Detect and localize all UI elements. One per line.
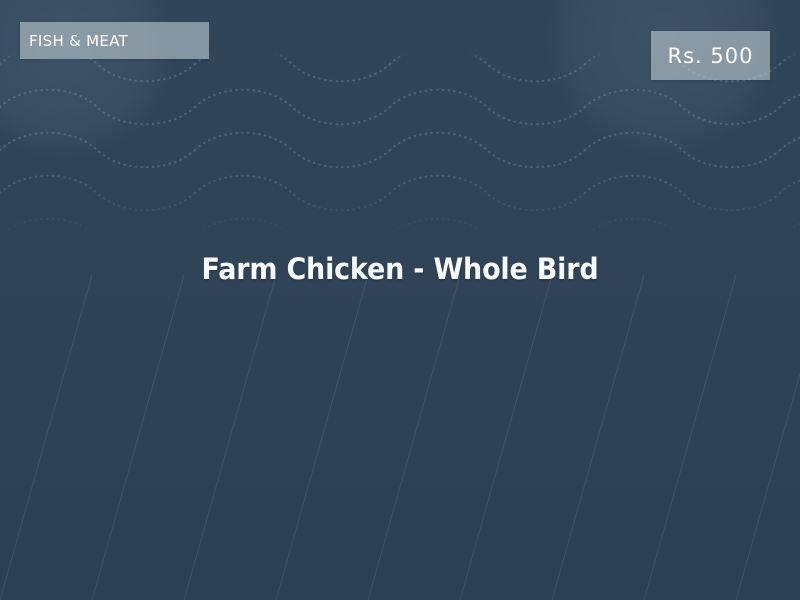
category-badge-label: FISH & MEAT [29,32,128,50]
price-badge-label: Rs. 500 [668,44,754,68]
tonal-overlay [0,0,800,600]
product-card: FISH & MEAT Rs. 500 Farm Chicken - Whole… [0,0,800,600]
category-badge[interactable]: FISH & MEAT [20,22,209,59]
diagonal-lines-pattern [0,0,800,600]
dotted-wave-pattern [0,0,800,600]
product-title: Farm Chicken - Whole Bird [28,252,772,286]
price-badge[interactable]: Rs. 500 [651,31,770,80]
